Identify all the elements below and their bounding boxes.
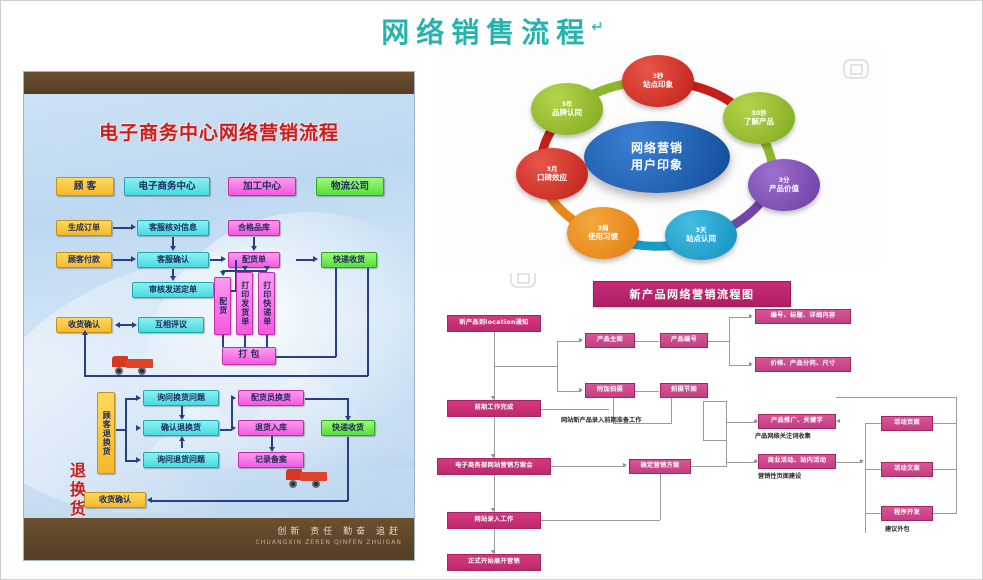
poster-arrow (242, 266, 248, 271)
flow-link (729, 317, 730, 365)
flow-link (956, 397, 957, 514)
flow-box-extra-shooting: 附加拍摄 (585, 383, 635, 398)
poster-node-qualified-stock: 合格品库 (228, 220, 280, 236)
user-impression-cycle-diagram: 网络营销 用户印象 3秒 站点印象 30秒 了解产品 3分 产品价值 3天 站点… (433, 47, 881, 266)
poster-link (276, 356, 336, 358)
flow-box-activity-page: 活动页面 (881, 416, 933, 431)
poster-node-create-order: 生成订单 (56, 220, 112, 236)
poster-arrow (313, 256, 318, 262)
poster-link (222, 335, 224, 347)
poster-node-ask-return: 询问退货问题 (143, 452, 219, 468)
poster-node-review-send-order: 审核发送定单 (132, 282, 214, 298)
poster-arrow (82, 330, 88, 335)
poster-arrow (264, 266, 270, 271)
poster-arrow (136, 457, 141, 463)
page-title: 网络销售流程↵ (1, 11, 983, 51)
poster-arrow (136, 395, 141, 401)
flow-box-confirm-plan: 确定营销方案 (629, 459, 691, 474)
flow-link (703, 401, 704, 441)
flow-link (726, 462, 756, 463)
flow-link (635, 341, 659, 342)
flow-box-code-title-content: 编号、标题、详细内容 (755, 309, 851, 324)
poster-arrow (179, 436, 185, 441)
flow-link (541, 409, 609, 410)
cycle-node-site-impression: 3秒 站点印象 (622, 55, 694, 107)
poster-link (335, 268, 337, 357)
flow-link (836, 462, 862, 463)
screenshot-root: 网络销售流程↵ 电子商务中心网络营销流程 顾 客 电子商务中心 加工中心 物流公… (0, 0, 983, 580)
poster-footer-pinyin: CHUANGXIN ZEREN QINFEN ZHUIGAN (255, 539, 402, 546)
flow-arrow (860, 459, 864, 463)
poster-title: 电子商务中心网络营销流程 (24, 118, 414, 145)
flow-link (557, 341, 581, 342)
poster-node-return-instock: 退货入库 (238, 420, 304, 436)
flow-box-product-code: 产品编号 (660, 333, 708, 348)
flow-link (557, 391, 581, 392)
poster-link (152, 500, 348, 502)
poster-link (125, 398, 136, 400)
poster-node-picking: 配货 (214, 277, 231, 335)
paragraph-mark-icon: ↵ (591, 18, 604, 36)
new-product-marketing-flowchart: 新产品网络营销流程图 新产品到location通知 前期工作完成 电子商务部网站… (433, 273, 976, 573)
flow-caption-outsource: 建议外包 (885, 524, 910, 533)
watermark-icon (843, 59, 869, 79)
watermark-icon-2 (510, 273, 536, 288)
flow-link (541, 520, 660, 521)
poster-arrow (345, 416, 351, 421)
flow-link (729, 317, 751, 318)
flow-box-shoot-detail: 拍摄节图 (660, 383, 708, 398)
poster-node-picker-exchange: 配货员换货 (238, 390, 304, 406)
delivery-truck-icon (112, 354, 154, 376)
poster-header-logistics: 物流公司 (316, 177, 384, 196)
flow-arrow (749, 362, 753, 366)
flow-box-promotion-keywords: 产品推广、关键字 (758, 414, 836, 429)
mountain-decoration (134, 348, 415, 468)
poster-arrow (221, 256, 226, 262)
poster-link (125, 460, 136, 462)
flow-box-product-main-image: 产品主图 (585, 333, 635, 348)
poster-link (116, 429, 126, 431)
poster-arrow (231, 425, 236, 431)
flow-link (865, 423, 881, 424)
flow-link (494, 366, 558, 367)
cycle-node-label: 站点认同 (686, 234, 716, 243)
cycle-node-label: 产品价值 (769, 184, 799, 193)
poster-link (266, 335, 268, 347)
flow-box-site-entry-work: 网站录入工作 (447, 512, 541, 529)
flow-link (703, 440, 727, 441)
poster-arrow (269, 447, 275, 452)
poster-node-print-invoice: 打印发货单 (236, 272, 253, 335)
cycle-node-learn-product: 30秒 了解产品 (723, 92, 795, 144)
flow-link (865, 423, 866, 533)
flow-link (865, 469, 881, 470)
poster-arrow (179, 415, 185, 420)
flow-link (708, 341, 730, 342)
flow-link (660, 474, 661, 520)
flow-box-new-product-notice: 新产品到location通知 (447, 315, 541, 332)
poster-link (119, 324, 133, 326)
cycle-node-label: 了解产品 (744, 117, 774, 126)
poster-link (367, 268, 369, 376)
poster-node-packing: 打 包 (222, 347, 276, 365)
flow-link (933, 469, 957, 470)
flow-caption-keyword-collect: 产品网络关注词收集 (755, 431, 811, 440)
flow-box-activity-copy: 活动文案 (881, 462, 933, 477)
poster-arrow (136, 425, 141, 431)
flow-box-prep-complete: 前期工作完成 (447, 400, 541, 417)
poster-node-customer-return: 顾客退换货 (97, 392, 115, 474)
flow-arrow (749, 314, 753, 318)
poster-link (244, 335, 246, 347)
flow-link (551, 466, 625, 467)
poster-arrow (170, 276, 176, 281)
poster-arrow (132, 322, 137, 328)
ecommerce-marketing-poster: 电子商务中心网络营销流程 顾 客 电子商务中心 加工中心 物流公司 生成订单 客… (23, 71, 415, 561)
poster-node-mutual-review: 互相评议 (138, 317, 204, 333)
poster-arrow (131, 224, 136, 230)
cycle-node-product-value: 3分 产品价值 (748, 159, 820, 211)
poster-arrow (170, 246, 176, 251)
flow-arrow (836, 419, 840, 423)
cycle-node-usage-habit: 3周 使用习惯 (567, 207, 639, 259)
poster-link (347, 437, 349, 501)
flow-caption-prep-work: 网站新产品录入前期准备工作 (561, 415, 641, 424)
poster-node-ask-exchange: 询问换货问题 (143, 390, 219, 406)
poster-header-process-center: 加工中心 (228, 177, 296, 196)
poster-node-print-express: 打印快递单 (258, 272, 275, 335)
flow-link (726, 422, 756, 423)
flow-arrow (579, 338, 583, 342)
cycle-node-word-of-mouth: 3月 口碑效应 (516, 148, 588, 200)
flow-link (726, 401, 727, 467)
poster-header-customer: 顾 客 (56, 177, 114, 196)
poster-arrow (231, 395, 236, 401)
flow-link (635, 391, 659, 392)
poster-link (305, 398, 348, 400)
flow-arrow (579, 388, 583, 392)
flow-link (865, 513, 881, 514)
flow-link (494, 475, 495, 512)
flow-caption-page-building: 营销性页面建设 (758, 471, 801, 480)
flow-link (703, 401, 727, 402)
flow-link (729, 365, 751, 366)
flowchart-title: 新产品网络营销流程图 (593, 281, 791, 307)
poster-arrow (251, 246, 257, 251)
flow-box-program-dev: 程序开发 (881, 506, 933, 521)
flow-arrow (623, 463, 627, 467)
cycle-node-label: 口碑效应 (537, 173, 567, 182)
poster-top-bar (24, 72, 414, 94)
poster-node-receipt-confirm-2: 收货确认 (84, 492, 146, 508)
poster-header-ec-center: 电子商务中心 (124, 177, 210, 196)
poster-link (84, 375, 368, 377)
poster-link (296, 259, 314, 261)
flow-link (836, 397, 957, 398)
cycle-node-label: 品牌认同 (552, 108, 582, 117)
flow-link (691, 466, 727, 467)
poster-node-customer-pay: 顾客付款 (56, 252, 112, 268)
poster-node-cs-confirm: 客服确认 (137, 252, 209, 268)
flow-link (933, 513, 957, 514)
cycle-node-label: 站点印象 (643, 80, 673, 89)
poster-node-cs-verify: 客服核对信息 (137, 220, 209, 236)
flow-link (933, 423, 957, 424)
poster-footer-cn: 创新 责任 勤奋 追赶 (277, 524, 402, 537)
poster-link (113, 227, 132, 229)
cycle-node-label: 使用习惯 (588, 232, 618, 241)
poster-node-express-pickup-2: 快递收货 (321, 420, 375, 436)
page-title-text: 网络销售流程 (381, 16, 591, 49)
cycle-node-site-identity: 3天 站点认同 (665, 210, 737, 260)
poster-link (84, 334, 86, 376)
poster-node-express-pickup: 快递收货 (321, 252, 377, 268)
cycle-center-node: 网络营销 用户印象 (584, 121, 730, 193)
flow-link (557, 341, 558, 391)
poster-node-record-archive: 记录备案 (238, 452, 304, 468)
flow-box-start-marketing: 正式开始展开营销 (447, 554, 541, 571)
cycle-center-line2: 用户印象 (631, 157, 683, 174)
poster-arrow (147, 497, 152, 503)
poster-arrow (220, 271, 226, 276)
flow-link (494, 417, 495, 458)
cycle-center-line1: 网络营销 (631, 140, 683, 157)
flow-box-commercial-activities: 商业活动、站内活动 (758, 454, 836, 469)
flow-box-price-category-size: 价格、产品分同、尺寸 (755, 357, 851, 372)
poster-arrow (131, 256, 136, 262)
poster-node-confirm-return: 确认退换货 (143, 420, 219, 436)
flow-link (671, 398, 672, 424)
return-truck-icon (286, 467, 328, 489)
poster-link (113, 259, 132, 261)
poster-bottom-bar: 创新 责任 勤奋 追赶 CHUANGXIN ZEREN QINFEN ZHUIG… (24, 518, 414, 560)
flow-box-marketing-meeting: 电子商务部网站营销方案会 (437, 458, 551, 475)
cycle-node-brand-identity: 3年 品牌认同 (531, 83, 603, 135)
